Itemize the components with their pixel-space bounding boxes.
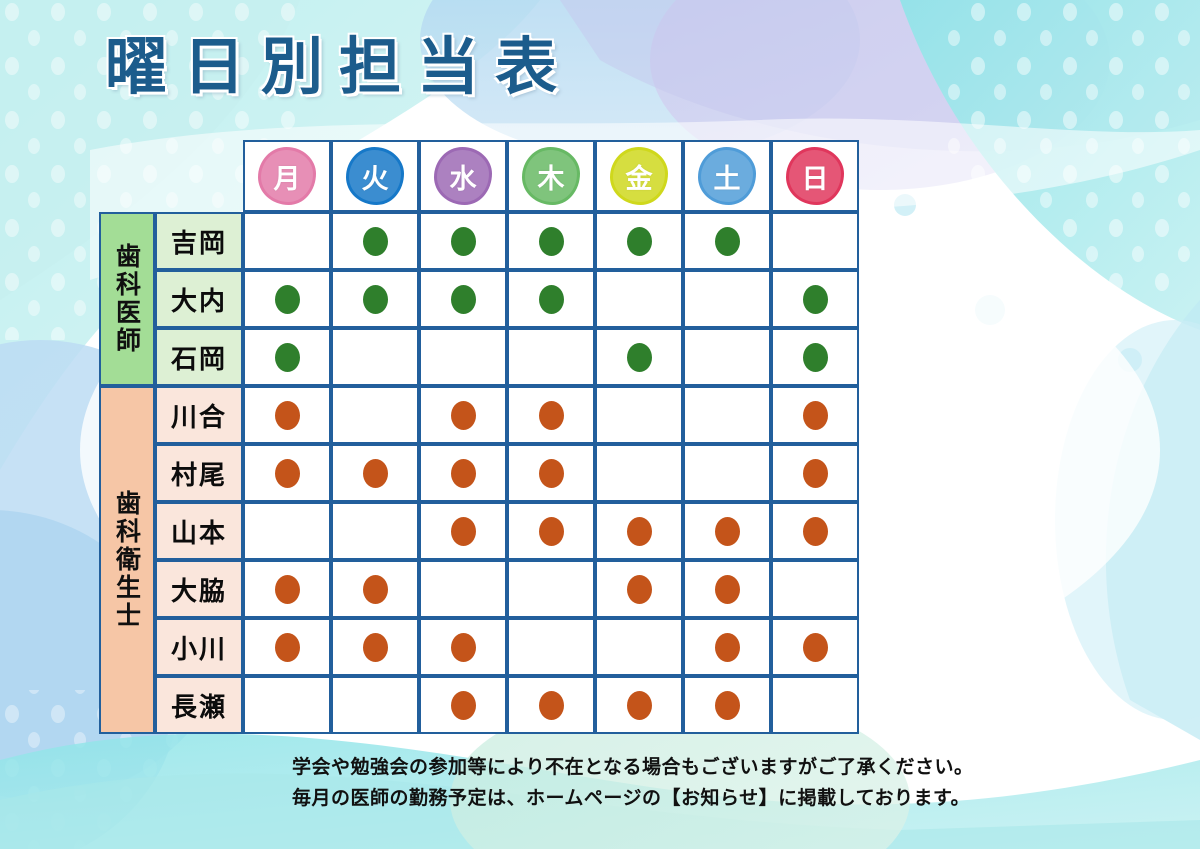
duty-cell-sat: [683, 328, 771, 386]
duty-cell-wed: [419, 618, 507, 676]
duty-dot-icon: [539, 285, 564, 314]
duty-dot-icon: [715, 575, 740, 604]
duty-cell-sat: [683, 618, 771, 676]
day-blob-sat: 土: [698, 147, 756, 205]
table-body: 歯科医師吉岡大内石岡歯科衛生士川合村尾山本大脇小川長瀬: [99, 212, 859, 734]
duty-cell-mon: [243, 212, 331, 270]
duty-dot-icon: [539, 459, 564, 488]
day-label-sat: 土: [714, 157, 741, 196]
page-title: 曜日別担当表: [105, 34, 760, 99]
duty-cell-fri: [595, 328, 683, 386]
table-row: 歯科医師吉岡: [99, 212, 859, 270]
day-blob-fri: 金: [610, 147, 668, 205]
duty-cell-tue: [331, 328, 419, 386]
duty-dot-icon: [451, 691, 476, 720]
duty-cell-wed: [419, 560, 507, 618]
table-row: 村尾: [99, 444, 859, 502]
duty-cell-wed: [419, 502, 507, 560]
duty-dot-icon: [275, 285, 300, 314]
day-label-tue: 火: [362, 157, 389, 196]
staff-name-cell: 村尾: [155, 444, 243, 502]
staff-name-cell: 川合: [155, 386, 243, 444]
header-spacer-category: [99, 140, 155, 212]
day-header-sat: 土: [683, 140, 771, 212]
duty-dot-icon: [275, 459, 300, 488]
duty-cell-thu: [507, 270, 595, 328]
day-header-mon: 月: [243, 140, 331, 212]
duty-dot-icon: [627, 227, 652, 256]
duty-dot-icon: [451, 285, 476, 314]
duty-dot-icon: [627, 575, 652, 604]
duty-cell-sat: [683, 560, 771, 618]
duty-cell-tue: [331, 676, 419, 734]
duty-dot-icon: [539, 401, 564, 430]
staff-name-cell: 小川: [155, 618, 243, 676]
duty-cell-sun: [771, 328, 859, 386]
duty-cell-fri: [595, 502, 683, 560]
day-label-sun: 日: [802, 157, 829, 196]
duty-cell-fri: [595, 560, 683, 618]
table-row: 小川: [99, 618, 859, 676]
duty-cell-fri: [595, 270, 683, 328]
duty-cell-mon: [243, 386, 331, 444]
header-spacer-name: [155, 140, 243, 212]
duty-dot-icon: [715, 517, 740, 546]
duty-cell-tue: [331, 560, 419, 618]
day-label-wed: 水: [450, 157, 477, 196]
duty-cell-thu: [507, 444, 595, 502]
duty-cell-sun: [771, 212, 859, 270]
duty-dot-icon: [275, 575, 300, 604]
duty-cell-sun: [771, 502, 859, 560]
day-label-thu: 木: [538, 157, 565, 196]
duty-cell-thu: [507, 676, 595, 734]
duty-cell-fri: [595, 386, 683, 444]
duty-cell-wed: [419, 444, 507, 502]
duty-cell-wed: [419, 328, 507, 386]
day-blob-wed: 水: [434, 147, 492, 205]
staff-name-cell: 吉岡: [155, 212, 243, 270]
duty-dot-icon: [451, 459, 476, 488]
table-row: 長瀬: [99, 676, 859, 734]
table-row: 大内: [99, 270, 859, 328]
duty-cell-mon: [243, 444, 331, 502]
duty-cell-fri: [595, 618, 683, 676]
footer-note-line-1: 学会や勉強会の参加等により不在となる場合もございますがご了承ください。: [292, 752, 974, 783]
table-row: 山本: [99, 502, 859, 560]
day-header-sun: 日: [771, 140, 859, 212]
duty-dot-icon: [715, 633, 740, 662]
day-header-thu: 木: [507, 140, 595, 212]
duty-dot-icon: [627, 691, 652, 720]
duty-dot-icon: [715, 227, 740, 256]
duty-cell-tue: [331, 618, 419, 676]
duty-cell-thu: [507, 618, 595, 676]
duty-dot-icon: [451, 517, 476, 546]
duty-cell-sat: [683, 270, 771, 328]
duty-cell-tue: [331, 212, 419, 270]
duty-dot-icon: [363, 575, 388, 604]
duty-dot-icon: [275, 633, 300, 662]
duty-cell-tue: [331, 502, 419, 560]
duty-dot-icon: [363, 285, 388, 314]
duty-cell-sun: [771, 444, 859, 502]
duty-cell-sun: [771, 676, 859, 734]
day-label-mon: 月: [274, 157, 301, 196]
duty-dot-icon: [539, 691, 564, 720]
duty-dot-icon: [627, 517, 652, 546]
duty-cell-sat: [683, 444, 771, 502]
duty-cell-mon: [243, 270, 331, 328]
day-blob-tue: 火: [346, 147, 404, 205]
category-cell-1: 歯科衛生士: [99, 386, 155, 734]
duty-dot-icon: [803, 633, 828, 662]
day-blob-mon: 月: [258, 147, 316, 205]
staff-name-cell: 石岡: [155, 328, 243, 386]
duty-cell-fri: [595, 676, 683, 734]
duty-cell-thu: [507, 328, 595, 386]
day-header-tue: 火: [331, 140, 419, 212]
table-header-row: 月火水木金土日: [99, 140, 859, 212]
duty-dot-icon: [363, 227, 388, 256]
duty-cell-sat: [683, 676, 771, 734]
table-row: 石岡: [99, 328, 859, 386]
duty-cell-mon: [243, 560, 331, 618]
footer-notes: 学会や勉強会の参加等により不在となる場合もございますがご了承ください。 毎月の医…: [292, 752, 974, 815]
duty-cell-mon: [243, 328, 331, 386]
duty-dot-icon: [539, 517, 564, 546]
page-title-wrap: 曜日別担当表: [0, 34, 760, 99]
duty-cell-thu: [507, 212, 595, 270]
duty-dot-icon: [451, 401, 476, 430]
staff-name-cell: 大脇: [155, 560, 243, 618]
duty-cell-sat: [683, 502, 771, 560]
duty-cell-sat: [683, 212, 771, 270]
duty-cell-sun: [771, 270, 859, 328]
duty-dot-icon: [539, 227, 564, 256]
duty-cell-sat: [683, 386, 771, 444]
staff-name-cell: 山本: [155, 502, 243, 560]
duty-cell-sun: [771, 386, 859, 444]
duty-dot-icon: [275, 343, 300, 372]
duty-dot-icon: [275, 401, 300, 430]
duty-dot-icon: [363, 633, 388, 662]
duty-dot-icon: [803, 401, 828, 430]
duty-dot-icon: [803, 343, 828, 372]
schedule-table: 月火水木金土日 歯科医師吉岡大内石岡歯科衛生士川合村尾山本大脇小川長瀬: [99, 140, 859, 734]
duty-cell-mon: [243, 676, 331, 734]
duty-cell-mon: [243, 502, 331, 560]
day-header-wed: 水: [419, 140, 507, 212]
duty-cell-thu: [507, 502, 595, 560]
duty-cell-tue: [331, 444, 419, 502]
day-blob-thu: 木: [522, 147, 580, 205]
duty-cell-wed: [419, 676, 507, 734]
duty-cell-tue: [331, 270, 419, 328]
staff-name-cell: 大内: [155, 270, 243, 328]
duty-dot-icon: [627, 343, 652, 372]
duty-cell-mon: [243, 618, 331, 676]
duty-cell-sun: [771, 560, 859, 618]
duty-cell-wed: [419, 386, 507, 444]
category-cell-0: 歯科医師: [99, 212, 155, 386]
duty-dot-icon: [803, 517, 828, 546]
duty-dot-icon: [715, 691, 740, 720]
duty-cell-tue: [331, 386, 419, 444]
day-blob-sun: 日: [786, 147, 844, 205]
duty-cell-wed: [419, 212, 507, 270]
day-header-fri: 金: [595, 140, 683, 212]
duty-dot-icon: [803, 459, 828, 488]
duty-dot-icon: [803, 285, 828, 314]
staff-name-cell: 長瀬: [155, 676, 243, 734]
table-row: 大脇: [99, 560, 859, 618]
duty-cell-fri: [595, 444, 683, 502]
duty-dot-icon: [363, 459, 388, 488]
duty-dot-icon: [451, 633, 476, 662]
duty-cell-thu: [507, 560, 595, 618]
duty-cell-sun: [771, 618, 859, 676]
duty-cell-fri: [595, 212, 683, 270]
day-label-fri: 金: [626, 157, 653, 196]
duty-cell-wed: [419, 270, 507, 328]
duty-dot-icon: [451, 227, 476, 256]
duty-cell-thu: [507, 386, 595, 444]
table-row: 歯科衛生士川合: [99, 386, 859, 444]
footer-note-line-2: 毎月の医師の勤務予定は、ホームページの【お知らせ】に掲載しております。: [292, 783, 974, 814]
